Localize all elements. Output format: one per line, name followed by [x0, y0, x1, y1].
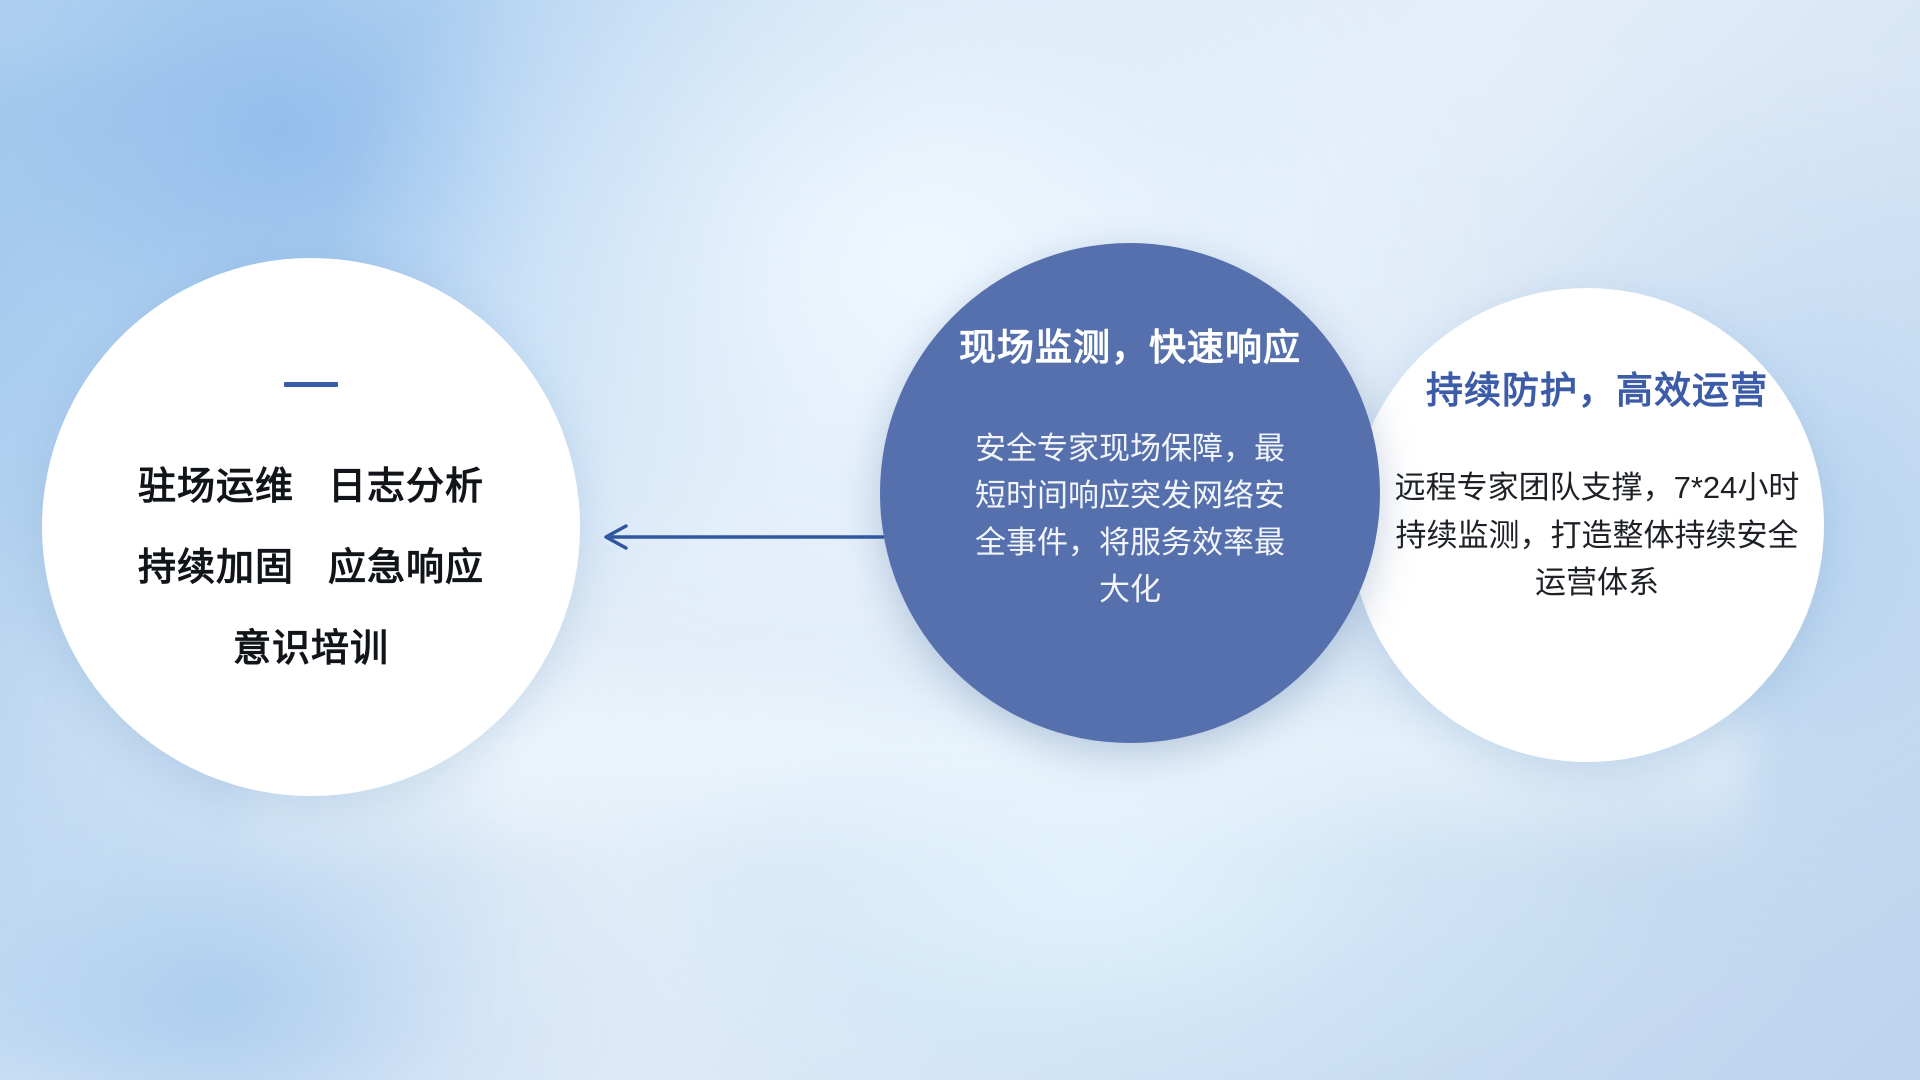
flow-arrow-left	[596, 520, 886, 554]
left-capability-list: 驻场运维 日志分析 持续加固 应急响应 意识培训	[138, 455, 484, 672]
capability-tag[interactable]: 持续加固	[138, 536, 294, 591]
arrow-left-icon	[596, 520, 886, 554]
capability-tag[interactable]: 意识培训	[233, 617, 389, 672]
divider-dash-icon	[284, 382, 338, 387]
right-service-circle[interactable]: 持续防护，高效运营 远程专家团队支撑，7*24小时持续监测，打造整体持续安全运营…	[1350, 288, 1824, 762]
right-circle-title: 持续防护，高效运营	[1426, 360, 1768, 414]
mid-service-circle[interactable]: 现场监测，快速响应 安全专家现场保障，最短时间响应突发网络安全事件，将服务效率最…	[880, 243, 1380, 743]
mid-circle-title: 现场监测，快速响应	[959, 317, 1301, 371]
capability-tag[interactable]: 应急响应	[328, 536, 484, 591]
right-circle-body: 远程专家团队支撑，7*24小时持续监测，打造整体持续安全运营体系	[1392, 464, 1802, 607]
left-circle-content: 驻场运维 日志分析 持续加固 应急响应 意识培训	[42, 258, 580, 796]
list-item: 驻场运维 日志分析	[138, 455, 484, 510]
list-item: 持续加固 应急响应	[138, 536, 484, 591]
capability-tag[interactable]: 驻场运维	[138, 455, 294, 510]
mid-circle-body: 安全专家现场保障，最短时间响应突发网络安全事件，将服务效率最大化	[965, 425, 1295, 613]
left-capability-circle[interactable]: 驻场运维 日志分析 持续加固 应急响应 意识培训	[42, 258, 580, 796]
mid-circle-content: 现场监测，快速响应 安全专家现场保障，最短时间响应突发网络安全事件，将服务效率最…	[880, 243, 1380, 743]
diagram-canvas: 驻场运维 日志分析 持续加固 应急响应 意识培训 持续防护，高效运营 远程专家团…	[0, 0, 1920, 1080]
list-item: 意识培训	[233, 617, 389, 672]
right-circle-content: 持续防护，高效运营 远程专家团队支撑，7*24小时持续监测，打造整体持续安全运营…	[1350, 288, 1824, 762]
capability-tag[interactable]: 日志分析	[328, 455, 484, 510]
